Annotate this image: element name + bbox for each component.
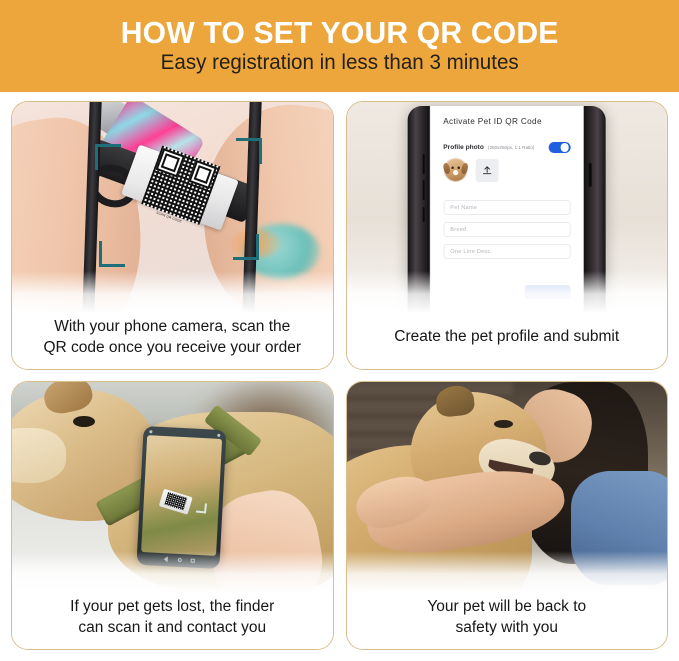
viewfinder-bracket (196, 503, 207, 514)
one-line-desc-input[interactable]: One Line Desc. (443, 244, 570, 259)
step-card-4: Your pet will be back to safety with you (346, 381, 669, 650)
page-title: HOW TO SET YOUR QR CODE (121, 17, 559, 50)
step-card-1: SCAN QR CODE With your phone camera, sca… (11, 101, 334, 370)
breed-input[interactable]: Breed (443, 222, 570, 237)
step-4-image (347, 382, 668, 593)
caption-line: QR code once you receive your order (22, 338, 323, 358)
step-1-image: SCAN QR CODE (12, 102, 333, 313)
step-2-image: Activate Pet ID QR Code Profile photo (2… (347, 102, 668, 313)
caption-line: Create the pet profile and submit (357, 327, 658, 347)
toggle-knob (561, 143, 569, 151)
image-fade (347, 551, 668, 593)
app-screen-title: Activate Pet ID QR Code (443, 117, 570, 126)
viewfinder-bracket-top-left (95, 144, 121, 170)
image-fade (347, 271, 668, 313)
phone-volume-button (422, 154, 425, 174)
caption-line: With your phone camera, scan the (22, 317, 323, 337)
photo-controls (443, 158, 570, 182)
avatar (443, 158, 467, 182)
step-card-2: Activate Pet ID QR Code Profile photo (2… (346, 101, 669, 370)
caption-line: Your pet will be back to (357, 597, 658, 617)
phone-power-button (422, 207, 425, 222)
profile-photo-spec: (250x250px, 1:1 Ratio) (488, 145, 534, 150)
step-card-3: If your pet gets lost, the finder can sc… (11, 381, 334, 650)
upload-button[interactable] (475, 159, 498, 182)
battery-icon (218, 434, 221, 437)
viewfinder-bracket-top-right (236, 138, 262, 164)
pet-name-input[interactable]: Pet Name (443, 200, 570, 215)
qr-code (164, 493, 186, 511)
image-fade (12, 271, 333, 313)
profile-photo-toggle[interactable] (548, 142, 570, 153)
steps-grid: SCAN QR CODE With your phone camera, sca… (0, 92, 679, 661)
caption-line: If your pet gets lost, the finder (22, 597, 323, 617)
image-fade (12, 551, 333, 593)
smartphone (137, 426, 228, 569)
phone-side-button (589, 163, 592, 187)
step-2-caption: Create the pet profile and submit (347, 313, 668, 369)
profile-photo-label: Profile photo (443, 144, 484, 151)
step-1-caption: With your phone camera, scan the QR code… (12, 313, 333, 369)
viewfinder-bracket-bottom-left (99, 241, 125, 267)
camera-viewfinder (141, 436, 222, 557)
qr-pet-tag-on-screen (159, 489, 193, 515)
page-header: HOW TO SET YOUR QR CODE Easy registratio… (0, 0, 679, 92)
page-subtitle: Easy registration in less than 3 minutes (160, 51, 518, 75)
step-4-caption: Your pet will be back to safety with you (347, 593, 668, 649)
caption-line: can scan it and contact you (22, 618, 323, 638)
caption-line: safety with you (357, 618, 658, 638)
signal-icon (150, 430, 153, 433)
upload-icon (481, 165, 492, 176)
step-3-caption: If your pet gets lost, the finder can sc… (12, 593, 333, 649)
profile-photo-row: Profile photo (250x250px, 1:1 Ratio) (443, 142, 570, 153)
viewfinder-bracket-bottom-right (233, 234, 259, 260)
phone-volume-button (422, 180, 425, 200)
step-3-image (12, 382, 333, 593)
